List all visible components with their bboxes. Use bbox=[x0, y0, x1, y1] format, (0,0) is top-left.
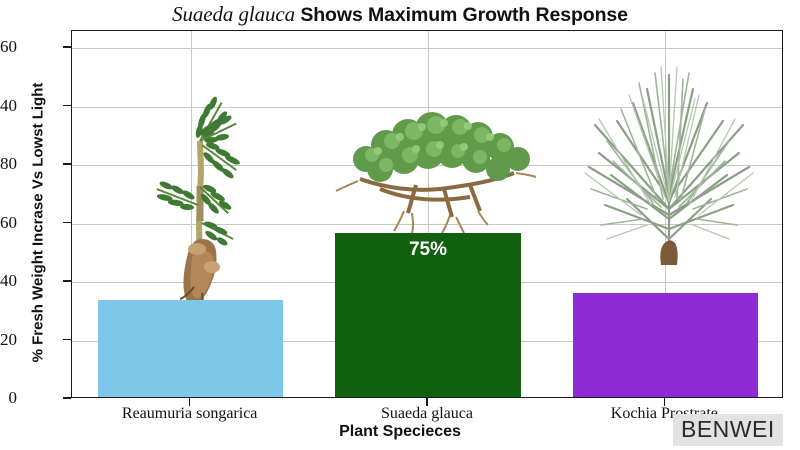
y-tick-label: 40 bbox=[0, 271, 17, 291]
x-tick-label: Suaeda glauca bbox=[381, 405, 473, 423]
bar-kochia-prostrate[interactable] bbox=[573, 293, 758, 397]
plot-area: 75% bbox=[71, 30, 783, 398]
y-tick-mark bbox=[63, 46, 71, 48]
bar-chart-figure: Suaeda glauca Shows Maximum Growth Respo… bbox=[0, 0, 800, 450]
y-tick-label: 140 bbox=[0, 96, 17, 116]
y-tick-label: 160 bbox=[0, 37, 17, 57]
y-tick-mark bbox=[63, 397, 71, 399]
y-tick-mark bbox=[63, 222, 71, 224]
y-tick-mark bbox=[63, 339, 71, 341]
bar-value-label: 75% bbox=[335, 239, 520, 261]
chart-title-species: Suaeda glauca bbox=[172, 2, 295, 26]
bar-reaumuria-songarica[interactable] bbox=[98, 300, 283, 397]
plant-image-reaumuria-songarica bbox=[120, 71, 280, 303]
y-tick-label: 60 bbox=[0, 213, 17, 233]
y-tick-label: 20 bbox=[0, 330, 17, 350]
y-tick-mark bbox=[63, 105, 71, 107]
chart-title: Suaeda glauca Shows Maximum Growth Respo… bbox=[0, 2, 800, 27]
chart-title-rest: Shows Maximum Growth Response bbox=[300, 4, 628, 26]
y-tick-mark bbox=[63, 280, 71, 282]
plant-image-suaeda-glauca bbox=[320, 93, 550, 235]
y-tick-label: 0 bbox=[0, 388, 17, 408]
bar-suaeda-glauca[interactable]: 75% bbox=[335, 233, 520, 397]
y-tick-label: 80 bbox=[0, 154, 17, 174]
y-axis-label: % Fresh Weight Incrase Vs Lowst Light bbox=[30, 28, 47, 418]
x-tick-label: Reaumuria songarica bbox=[122, 405, 258, 423]
y-tick-mark bbox=[63, 163, 71, 165]
plant-image-kochia-prostrate bbox=[577, 49, 762, 267]
watermark-benwei: BENWEI bbox=[673, 414, 783, 446]
